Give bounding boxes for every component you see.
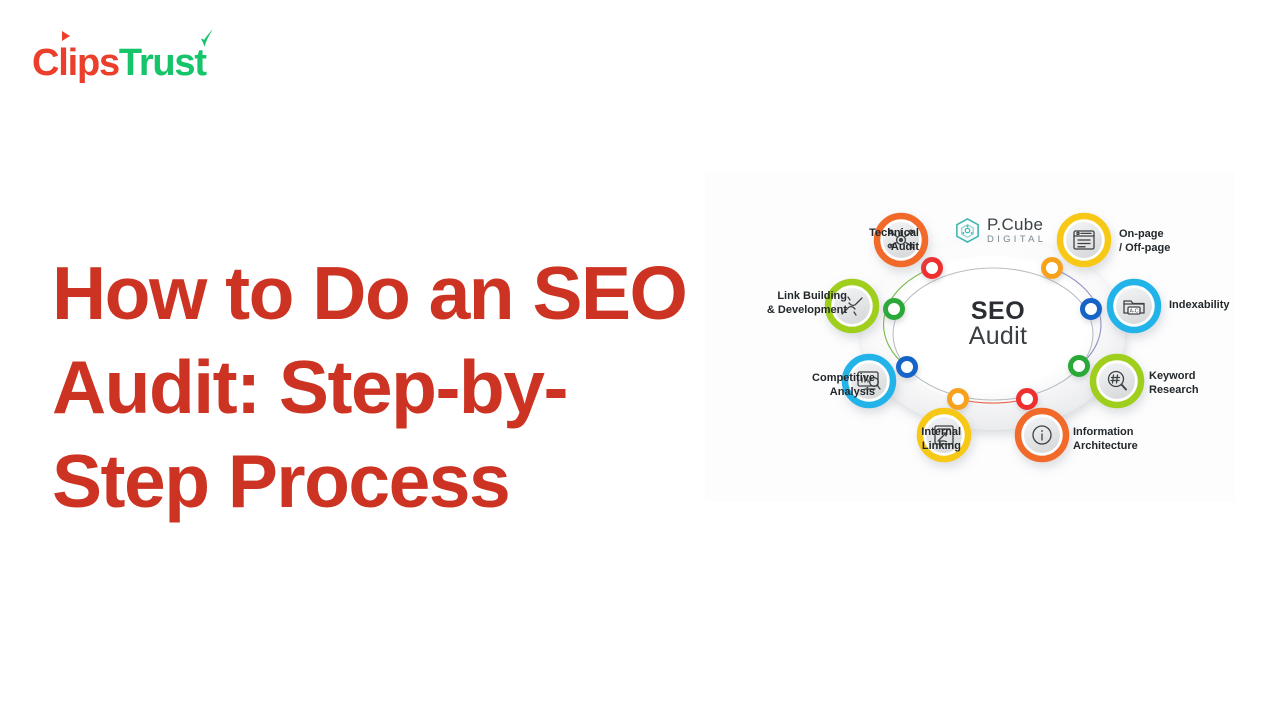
ring-node-top-left bbox=[924, 260, 941, 277]
pcube-name: P.Cube bbox=[987, 216, 1046, 233]
ring-node-top-right bbox=[1044, 260, 1061, 277]
infographic-node-5[interactable] bbox=[1093, 357, 1141, 405]
brand-logo-clips: Clips bbox=[32, 44, 119, 82]
node-label-0: Technical Audit bbox=[823, 227, 919, 254]
brand-logo-trust: Trust bbox=[119, 44, 206, 82]
pcube-subtitle: DIGITAL bbox=[987, 235, 1046, 245]
hexagon-cube-icon bbox=[954, 217, 981, 244]
node-label-6: Indexability bbox=[1169, 299, 1279, 313]
node-label-4: Information Architecture bbox=[1073, 426, 1183, 453]
node-label-1: Link Building & Development bbox=[751, 290, 847, 317]
node-label-2: Competitive Analysis bbox=[779, 372, 875, 399]
ring-node-bottom-right bbox=[1019, 391, 1036, 408]
brand-logo-trust-text: Trust bbox=[119, 42, 206, 84]
check-leaf-icon bbox=[199, 28, 215, 48]
svg-text:A-C: A-C bbox=[1130, 308, 1139, 314]
node-label-3: Internal Linking bbox=[865, 426, 961, 453]
page-title: How to Do an SEO Audit: Step-by-Step Pro… bbox=[52, 246, 712, 528]
slide-canvas: Clips Trust How to Do an SEO Audit: Step… bbox=[0, 0, 1280, 720]
seo-audit-infographic: A-C P.Cube DIGITAL SEO Audit Technical A… bbox=[705, 172, 1235, 502]
node-label-5: Keyword Research bbox=[1149, 370, 1259, 397]
brand-logo-clips-text: Clips bbox=[32, 42, 119, 84]
infographic-node-7[interactable] bbox=[1060, 216, 1108, 264]
ring-node-right-lower bbox=[1071, 358, 1088, 375]
play-triangle-icon bbox=[62, 31, 70, 41]
infographic-node-6[interactable]: A-C bbox=[1110, 282, 1158, 330]
ring-node-right-upper bbox=[1083, 301, 1100, 318]
center-label-seo: SEO bbox=[938, 299, 1058, 324]
infographic-node-4[interactable] bbox=[1018, 411, 1066, 459]
ring-node-left-lower bbox=[899, 359, 916, 376]
brand-logo[interactable]: Clips Trust bbox=[32, 44, 206, 82]
ring-node-bottom-left bbox=[950, 391, 967, 408]
pcube-text-block: P.Cube DIGITAL bbox=[987, 216, 1046, 245]
ring-node-left-upper bbox=[886, 301, 903, 318]
center-label-audit: Audit bbox=[938, 324, 1058, 349]
pcube-digital-watermark: P.Cube DIGITAL bbox=[954, 216, 1046, 245]
node-label-7: On-page / Off-page bbox=[1119, 228, 1229, 255]
